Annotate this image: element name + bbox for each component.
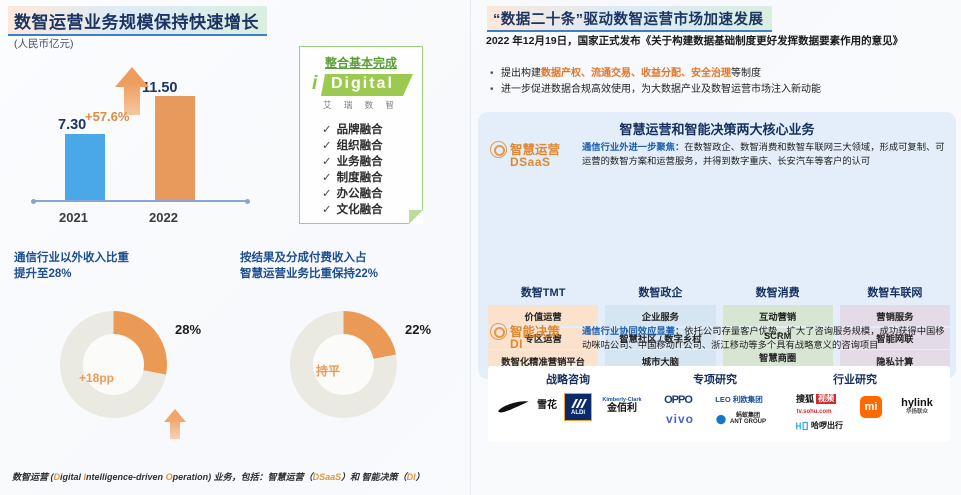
check-icon: ✓ bbox=[322, 156, 332, 168]
slide-root: 数智运营业务规模保持快速增长 (人民币亿元) 7.30 11.50 2021 2… bbox=[0, 0, 961, 495]
logo-snow-beer: 雪花 bbox=[532, 398, 562, 414]
gear-icon bbox=[490, 323, 507, 340]
integration-card: 整合基本完成 i Digital 艾 瑞 数 智 ✓品牌融合 ✓组织融合 ✓业务… bbox=[299, 46, 423, 224]
logo-hellobike: 哈啰出行 bbox=[786, 418, 852, 434]
integration-card-title: 整合基本完成 bbox=[300, 54, 422, 71]
policy-bullet-list: 提出构建数据产权、流通交易、收益分配、安全治理等制度进一步促进数据合规高效使用，… bbox=[488, 66, 948, 98]
core-business-title: 智慧运营和智能决策两大核心业务 bbox=[478, 119, 956, 138]
bar-2021 bbox=[65, 134, 105, 200]
integration-item-2: ✓业务融合 bbox=[322, 153, 383, 169]
donut-arrow-icon bbox=[164, 409, 186, 439]
logo-leo-group: LEO 利欧集团 bbox=[706, 393, 772, 406]
donut-title-1: 按结果及分成付费收入占智慧运营业务比重保持22% bbox=[240, 250, 378, 282]
donut-chart-0 bbox=[60, 311, 167, 418]
logo-sohu-video: 搜狐 视频 bbox=[784, 392, 848, 406]
di-client-logos: 雪花 ALDI Kimberly-Clark 金佰利 OPPO vivo LEO… bbox=[488, 388, 950, 440]
idigital-logo-subtitle: 艾 瑞 数 智 bbox=[307, 99, 415, 111]
column-header: 数智TMT bbox=[488, 284, 598, 300]
idigital-logo-word: Digital bbox=[331, 75, 394, 93]
bar-2022 bbox=[155, 96, 195, 200]
logo-vivo: vivo bbox=[658, 412, 702, 426]
di-eng: DI bbox=[510, 337, 523, 351]
logo-hylink: hylink 华扬联众 bbox=[888, 396, 946, 418]
column-tag: 营销服务 bbox=[840, 305, 950, 326]
growth-arrow-icon bbox=[115, 67, 149, 115]
column-header: 数智政企 bbox=[605, 284, 715, 300]
gear-icon bbox=[490, 141, 507, 158]
logo-xiaomi: mi bbox=[860, 396, 882, 418]
core-business-panel: 智慧运营和智能决策两大核心业务 智慧运营 DSaaS 通信行业外进一步聚焦：在数… bbox=[478, 112, 956, 379]
logo-oppo: OPPO bbox=[656, 394, 700, 407]
column-header: 数智消费 bbox=[723, 284, 833, 300]
check-icon: ✓ bbox=[322, 124, 332, 136]
donut-center-label-0: +18pp bbox=[79, 371, 114, 385]
right-page-title: “数据二十条”驱动数智运营市场加速发展 bbox=[487, 6, 772, 32]
logo-nike bbox=[496, 400, 530, 413]
donut-title-0: 通信行业以外收入比重提升至28% bbox=[14, 250, 129, 282]
integration-item-3: ✓制度融合 bbox=[322, 169, 383, 185]
idigital-logo-i: i bbox=[312, 73, 317, 95]
logo-aldi: ALDI bbox=[564, 393, 592, 421]
idigital-logo: i Digital bbox=[307, 73, 415, 97]
left-panel: 数智运营业务规模保持快速增长 (人民币亿元) 7.30 11.50 2021 2… bbox=[0, 0, 470, 495]
dsaas-eng: DSaaS bbox=[510, 155, 551, 169]
policy-bullet: 进一步促进数据合规高效使用，为大数据产业及数智运营市场注入新动能 bbox=[488, 82, 948, 98]
column-tag: 互动营销 bbox=[723, 305, 833, 326]
check-icon: ✓ bbox=[322, 204, 332, 216]
policy-lead-text: 2022 年12月19日，国家正式发布《关于构建数据基础制度更好发挥数据要素作用… bbox=[486, 34, 948, 49]
di-group-header-0: 战略咨询 bbox=[546, 371, 590, 387]
revenue-bar-chart: 7.30 11.50 2021 2022 +57.6% bbox=[20, 52, 275, 227]
logo-kimberly-clark: Kimberly-Clark 金佰利 bbox=[594, 396, 650, 416]
donut-percent-0: 28% bbox=[175, 322, 201, 337]
logo-sohu-url: tv.sohu.com bbox=[784, 407, 844, 417]
check-icon: ✓ bbox=[322, 188, 332, 200]
integration-item-1: ✓组织融合 bbox=[322, 137, 383, 153]
left-page-title: 数智运营业务规模保持快速增长 bbox=[8, 6, 267, 36]
growth-rate-label: +57.6% bbox=[85, 109, 129, 124]
check-icon: ✓ bbox=[322, 172, 332, 184]
column-header: 数智车联网 bbox=[840, 284, 950, 300]
chart-axis bbox=[33, 200, 248, 202]
right-panel: “数据二十条”驱动数智运营市场加速发展 2022 年12月19日，国家正式发布《… bbox=[474, 0, 961, 495]
donut-percent-1: 22% bbox=[405, 322, 431, 337]
check-icon: ✓ bbox=[322, 140, 332, 152]
di-group-header-2: 行业研究 bbox=[833, 371, 877, 387]
panel-divider bbox=[470, 0, 471, 495]
policy-bullet: 提出构建数据产权、流通交易、收益分配、安全治理等制度 bbox=[488, 66, 948, 82]
bar-category-2021: 2021 bbox=[59, 210, 88, 225]
integration-item-0: ✓品牌融合 bbox=[322, 121, 383, 137]
dsaas-description: 通信行业外进一步聚焦：在数智政企、数智消费和数智车联网三大领域，形成可复制、可运… bbox=[582, 140, 946, 168]
integration-item-5: ✓文化融合 bbox=[322, 201, 383, 217]
di-description: 通信行业协同效应显著：依托公司存量客户优势，扩大了咨询服务规模，成功获得中国移动… bbox=[582, 324, 946, 352]
di-group-header-1: 专项研究 bbox=[693, 371, 737, 387]
footnote: 数智运营 (Digital Intelligence-driven Operat… bbox=[12, 470, 462, 483]
bar-category-2022: 2022 bbox=[149, 210, 178, 225]
donut-section: 通信行业以外收入比重提升至28% 按结果及分成付费收入占智慧运营业务比重保持22… bbox=[0, 245, 470, 460]
donut-center-label-1: 持平 bbox=[316, 362, 340, 379]
chart-unit-label: (人民币亿元) bbox=[14, 36, 74, 51]
column-tag: 企业服务 bbox=[605, 305, 715, 326]
bar-value-2021: 7.30 bbox=[58, 117, 86, 133]
logo-ant-group: 蚂蚁集团ANT GROUP bbox=[706, 410, 774, 428]
di-clients-box: 战略咨询 专项研究 行业研究 雪花 ALDI Kimberly-Clark 金佰… bbox=[488, 366, 950, 442]
donut-chart-1 bbox=[290, 311, 397, 418]
integration-item-4: ✓办公融合 bbox=[322, 185, 383, 201]
